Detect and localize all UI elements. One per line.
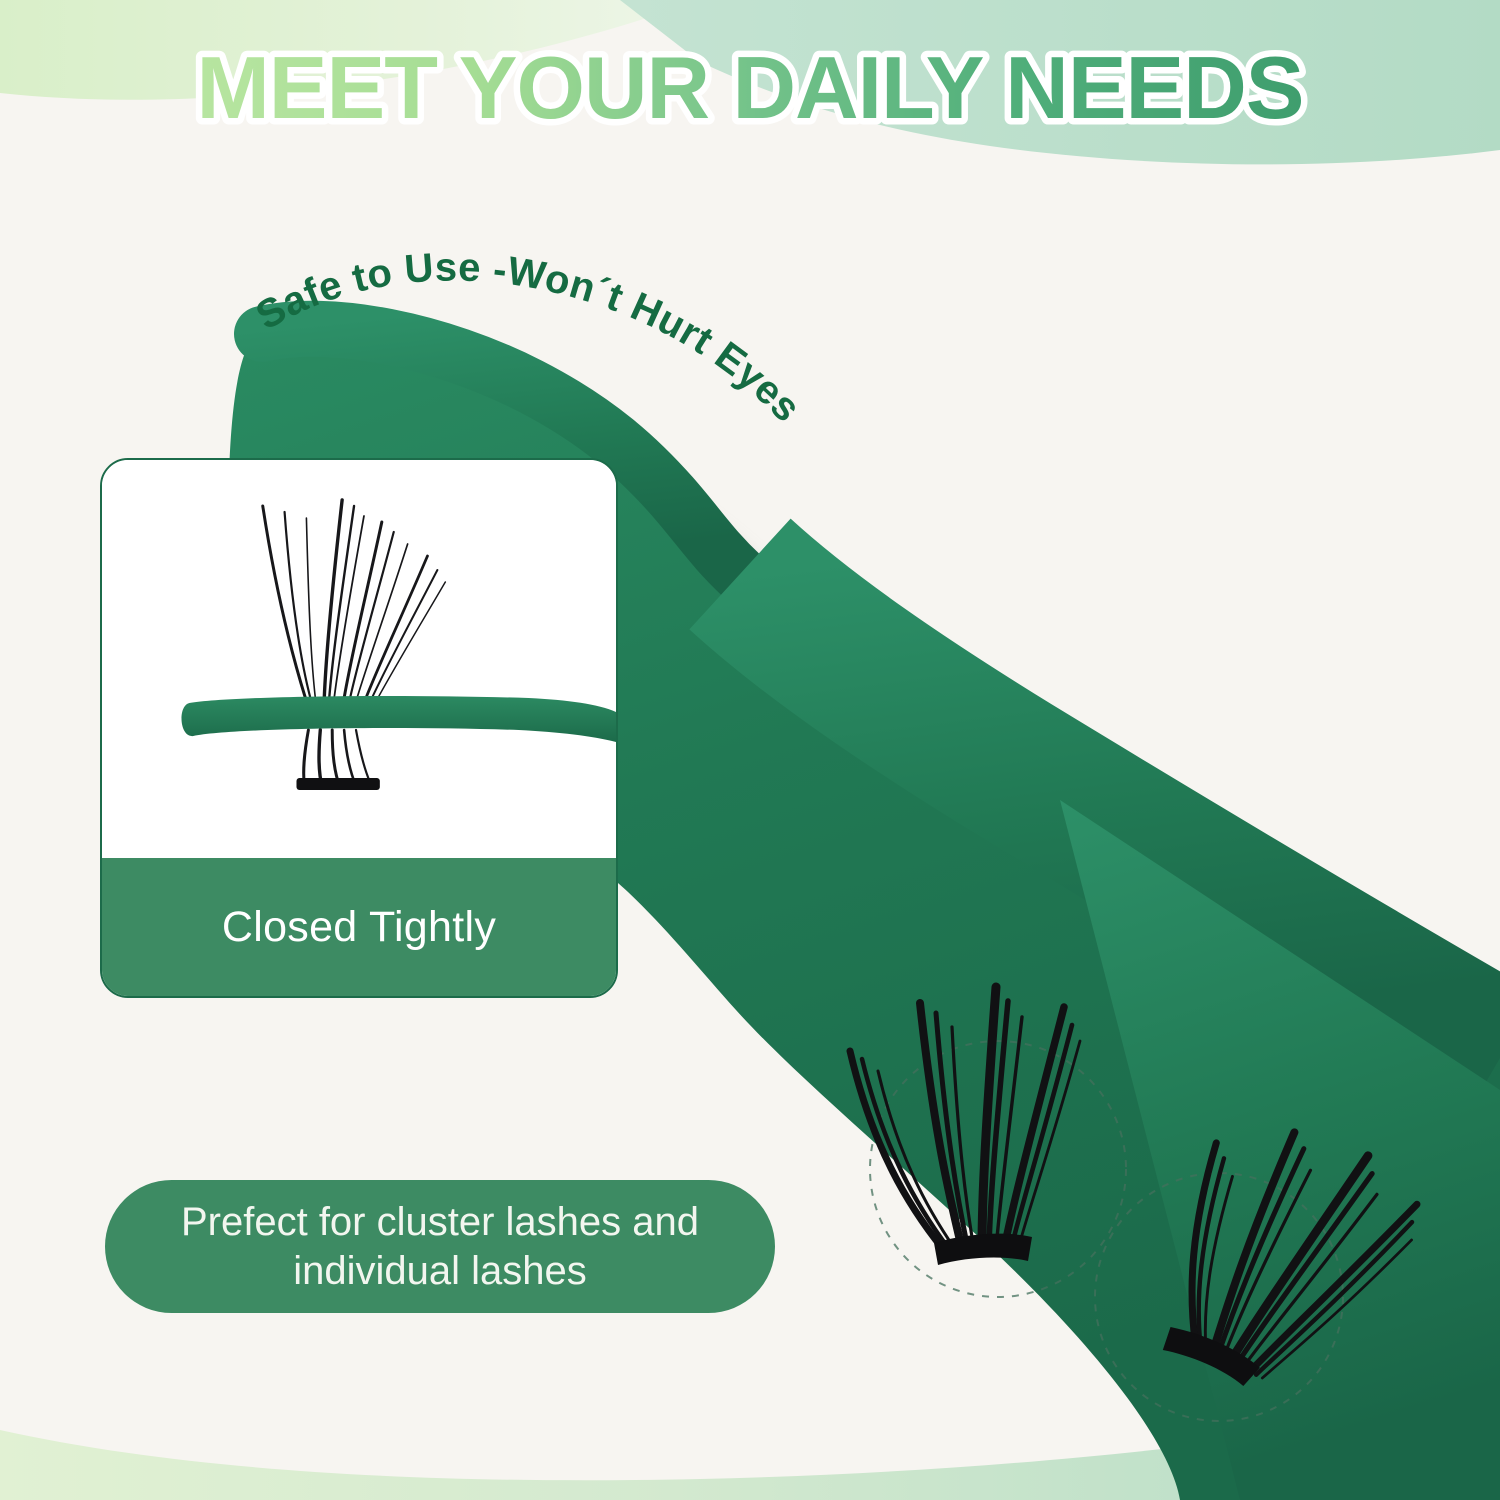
feature-pill[interactable]: Prefect for cluster lashes and individua… — [105, 1180, 775, 1313]
card-lash-band — [296, 778, 379, 790]
card-tweezer-blade — [182, 696, 616, 742]
closed-tightly-card[interactable]: Closed Tightly — [100, 458, 618, 998]
lash-cluster-2 — [1085, 1075, 1415, 1425]
lash-fibres-2 — [1129, 1090, 1437, 1410]
card-footer-label: Closed Tightly — [222, 903, 496, 952]
arc-caption-text: Safe to Use -Won´t Hurt Eyes — [249, 245, 809, 430]
dashed-circle-2 — [1095, 1173, 1343, 1421]
arc-caption-textpath: Safe to Use -Won´t Hurt Eyes — [249, 245, 809, 430]
card-photo — [102, 460, 616, 860]
page-title-container: MEET YOUR DAILY NEEDS MEET YOUR DAILY NE… — [0, 36, 1500, 146]
page-title: MEET YOUR DAILY NEEDS — [197, 38, 1304, 137]
infographic-canvas: MEET YOUR DAILY NEEDS MEET YOUR DAILY NE… — [0, 0, 1500, 1500]
feature-pill-label: Prefect for cluster lashes and individua… — [105, 1198, 775, 1296]
lash-fibres-1 — [850, 987, 1080, 1249]
card-footer: Closed Tightly — [102, 858, 616, 996]
card-lash-fibres — [263, 500, 446, 698]
